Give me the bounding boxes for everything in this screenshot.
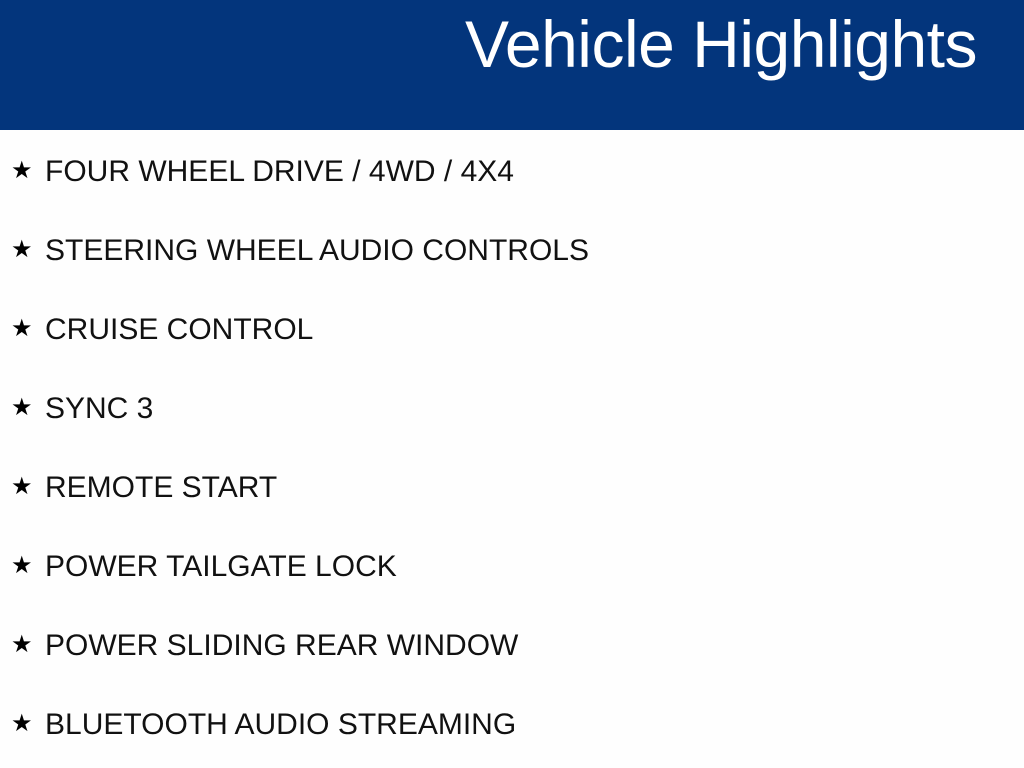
star-bullet-icon: ★	[11, 712, 33, 736]
star-bullet-icon: ★	[11, 633, 33, 657]
list-item: ★ STEERING WHEEL AUDIO CONTROLS	[0, 211, 1024, 290]
star-bullet-icon: ★	[11, 317, 33, 341]
star-bullet-icon: ★	[11, 554, 33, 578]
star-bullet-icon: ★	[11, 238, 33, 262]
list-item: ★ CRUISE CONTROL	[0, 290, 1024, 369]
list-item: ★ SYNC 3	[0, 369, 1024, 448]
list-item-label: CRUISE CONTROL	[45, 315, 313, 345]
list-item: ★ POWER SLIDING REAR WINDOW	[0, 606, 1024, 685]
star-bullet-icon: ★	[11, 396, 33, 420]
list-item-label: STEERING WHEEL AUDIO CONTROLS	[45, 236, 589, 266]
header-bar: Vehicle Highlights	[0, 0, 1024, 130]
star-bullet-icon: ★	[11, 475, 33, 499]
list-item: ★ POWER TAILGATE LOCK	[0, 527, 1024, 606]
list-item-label: REMOTE START	[45, 473, 277, 503]
list-item-label: POWER SLIDING REAR WINDOW	[45, 631, 518, 661]
list-item-label: SYNC 3	[45, 394, 153, 424]
list-item: ★ FOUR WHEEL DRIVE / 4WD / 4X4	[0, 132, 1024, 211]
list-item: ★ REMOTE START	[0, 448, 1024, 527]
page-title: Vehicle Highlights	[465, 11, 977, 77]
list-item-label: POWER TAILGATE LOCK	[45, 552, 397, 582]
list-item: ★ BLUETOOTH AUDIO STREAMING	[0, 685, 1024, 764]
list-item-label: BLUETOOTH AUDIO STREAMING	[45, 710, 516, 740]
vehicle-highlights-list: ★ FOUR WHEEL DRIVE / 4WD / 4X4 ★ STEERIN…	[0, 130, 1024, 768]
star-bullet-icon: ★	[11, 159, 33, 183]
vehicle-highlights-slide: Vehicle Highlights ★ FOUR WHEEL DRIVE / …	[0, 0, 1024, 768]
list-item-label: FOUR WHEEL DRIVE / 4WD / 4X4	[45, 157, 514, 187]
